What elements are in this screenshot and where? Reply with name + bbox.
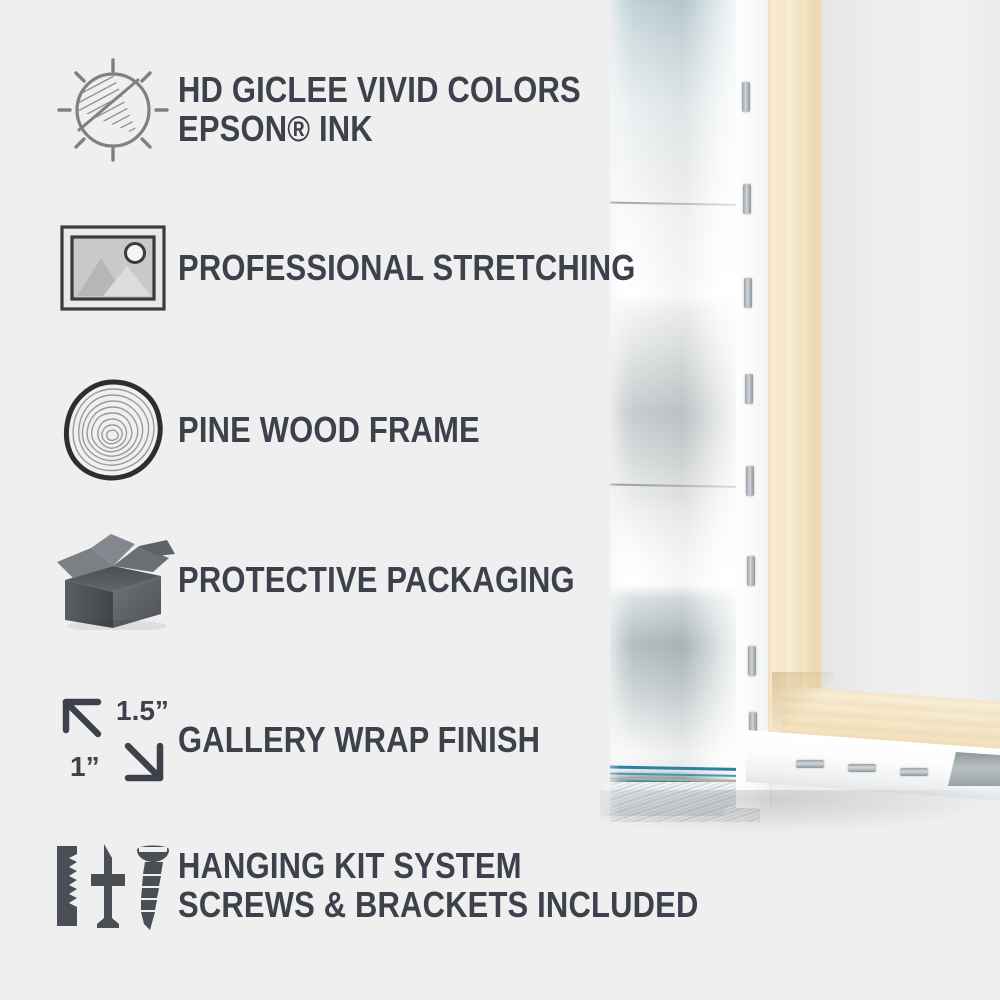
dimension-arrows-icon: 1.5” 1”: [48, 690, 178, 790]
feature-label: HANGING KIT SYSTEM SCREWS & BRACKETS INC…: [178, 847, 698, 925]
feature-row-hanging-kit: HANGING KIT SYSTEM SCREWS & BRACKETS INC…: [48, 840, 783, 932]
staple: [746, 466, 754, 496]
framed-picture-icon: [48, 222, 178, 314]
metal-hardware-wedge: [948, 752, 1000, 786]
stretcher-corner-miter: [772, 672, 834, 734]
depth-label: 1.5”: [116, 695, 169, 726]
feature-label: PINE WOOD FRAME: [178, 411, 480, 450]
staple: [796, 760, 824, 768]
canvas-wrap-white-edge: [736, 0, 770, 809]
product-drop-shadow: [600, 790, 1000, 834]
staple: [747, 556, 755, 586]
feature-label: HD GICLEE VIVID COLORS EPSON® INK: [178, 71, 581, 149]
staple: [742, 82, 750, 112]
infographic-canvas: HD GICLEE VIVID COLORS EPSON® INK PROFES…: [0, 0, 1000, 1000]
feature-row-pine-wood-frame: PINE WOOD FRAME: [48, 378, 529, 482]
open-box-icon: [48, 530, 178, 630]
pine-stretcher-bar-vertical: [768, 0, 824, 757]
width-label: 1”: [70, 751, 100, 782]
staple: [748, 646, 756, 676]
feature-row-professional-stretching: PROFESSIONAL STRETCHING: [48, 222, 710, 314]
feature-row-hd-giclee: HD GICLEE VIVID COLORS EPSON® INK: [48, 58, 646, 162]
hanging-hardware-icon: [48, 840, 178, 932]
staple: [744, 278, 752, 308]
feature-label: PROFESSIONAL STRETCHING: [178, 249, 636, 288]
feature-list: HD GICLEE VIVID COLORS EPSON® INK PROFES…: [0, 0, 620, 1000]
feature-row-protective-packaging: PROTECTIVE PACKAGING: [48, 530, 639, 630]
tree-rings-icon: [48, 378, 178, 482]
sun-hatched-icon: [48, 58, 178, 162]
staple: [848, 764, 876, 772]
feature-label: PROTECTIVE PACKAGING: [178, 561, 575, 600]
canvas-print-side-angle-photo: [596, 0, 1000, 826]
staple: [900, 768, 928, 776]
staple: [745, 374, 753, 404]
feature-row-gallery-wrap-finish: 1.5” 1” GALLERY WRAP FINISH: [48, 690, 599, 790]
staple: [743, 184, 751, 214]
feature-label: GALLERY WRAP FINISH: [178, 721, 540, 760]
canvas-back-texture: [822, 0, 1000, 736]
